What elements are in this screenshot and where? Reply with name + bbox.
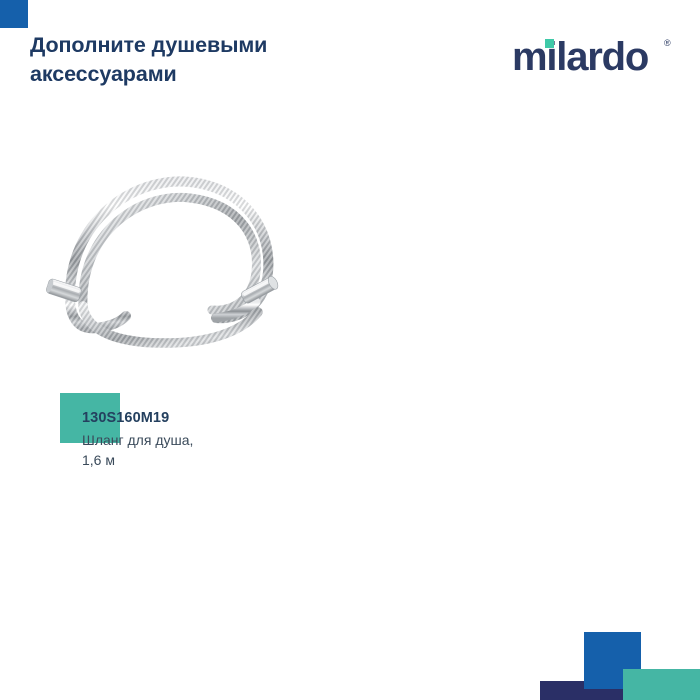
registered-trademark-icon: ® [664,38,671,48]
product-sku: 130S160M19 [82,409,302,428]
decor-square-top-left [0,0,28,28]
product-description: Шланг для душа, 1,6 м [82,430,302,470]
product-label-block: 130S160M19 Шланг для душа, 1,6 м [60,393,300,488]
product-image-shower-hose [40,160,305,350]
brand-logo: milardo ® [512,36,682,78]
logo-accent-dot-icon [545,39,554,48]
product-promo-card: Дополните душевыми аксессуарами milardo … [0,0,700,700]
page-title: Дополните душевыми аксессуарами [30,31,360,88]
brand-logo-text: milardo [512,36,648,78]
decor-square-bottom-teal [623,669,700,700]
product-text: 130S160M19 Шланг для душа, 1,6 м [82,409,302,470]
